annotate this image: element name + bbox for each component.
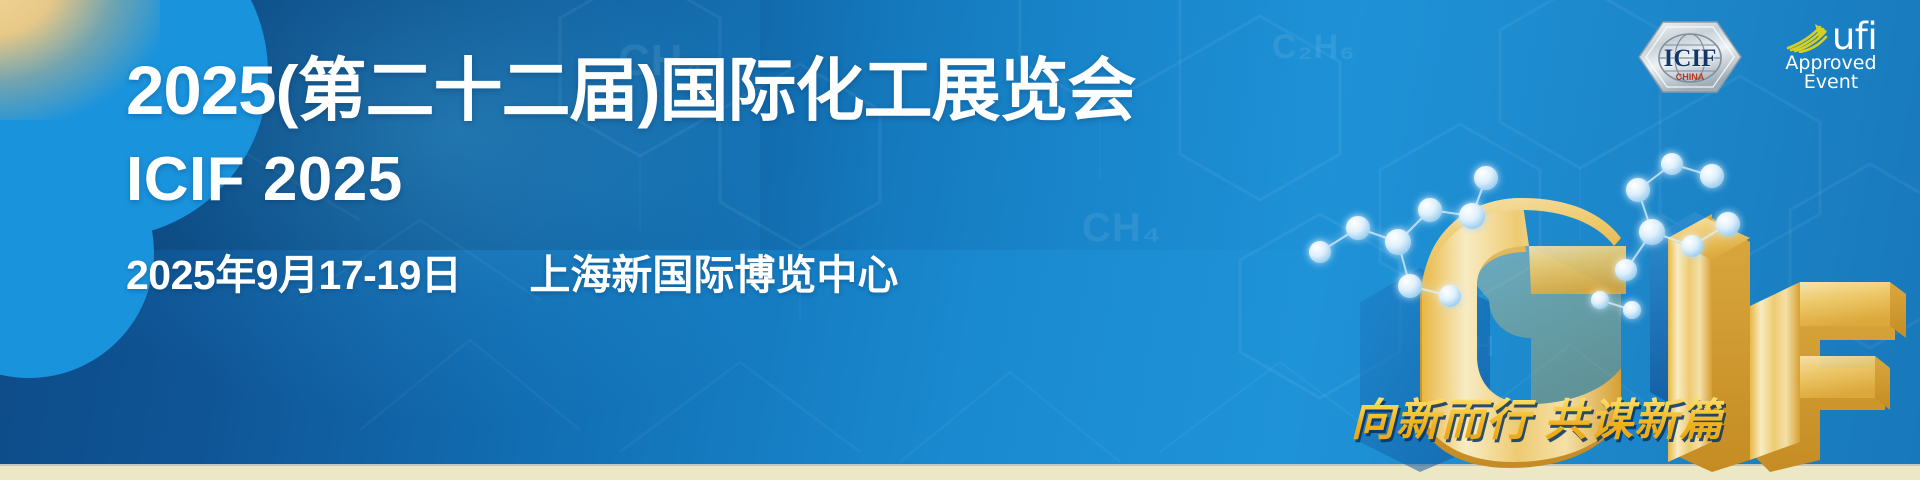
banner-meta-row: 2025年9月17-19日 上海新国际博览中心	[126, 241, 1135, 301]
ufi-approved-event-logo[interactable]: ufi Approved Event	[1766, 18, 1896, 100]
chem-label-oh: OH	[1448, 330, 1495, 364]
banner-text-block: 2025(第二十二届)国际化工展览会 ICIF 2025 2025年9月17-1…	[126, 56, 1135, 301]
ufi-wordmark: ufi	[1832, 20, 1877, 54]
ufi-event-label: Event	[1766, 73, 1896, 92]
logo-group: ICIF CHINA ufi Approved Event	[1636, 18, 1896, 100]
svg-text:CHINA: CHINA	[1676, 72, 1705, 82]
event-venue: 上海新国际博览中心	[529, 241, 898, 301]
banner-title-english: ICIF 2025	[126, 149, 1135, 211]
icif-badge-icon: ICIF CHINA	[1636, 18, 1744, 96]
svg-text:ICIF: ICIF	[1664, 45, 1717, 72]
bottom-accent-strip	[0, 464, 1920, 480]
banner-title-chinese: 2025(第二十二届)国际化工展览会	[126, 56, 1135, 125]
event-date: 2025年9月17-19日	[126, 241, 461, 301]
event-slogan: 向新而行 共谋新篇	[1351, 384, 1724, 448]
chem-label-c2h6: C₂H₆	[1272, 28, 1356, 67]
icif-china-logo[interactable]: ICIF CHINA	[1636, 18, 1744, 96]
exhibition-banner: CH₄ CH₄ C₂H₆ OH	[0, 0, 1920, 480]
ufi-swoosh-icon	[1785, 21, 1829, 53]
ufi-wordmark-row: ufi	[1766, 20, 1896, 54]
